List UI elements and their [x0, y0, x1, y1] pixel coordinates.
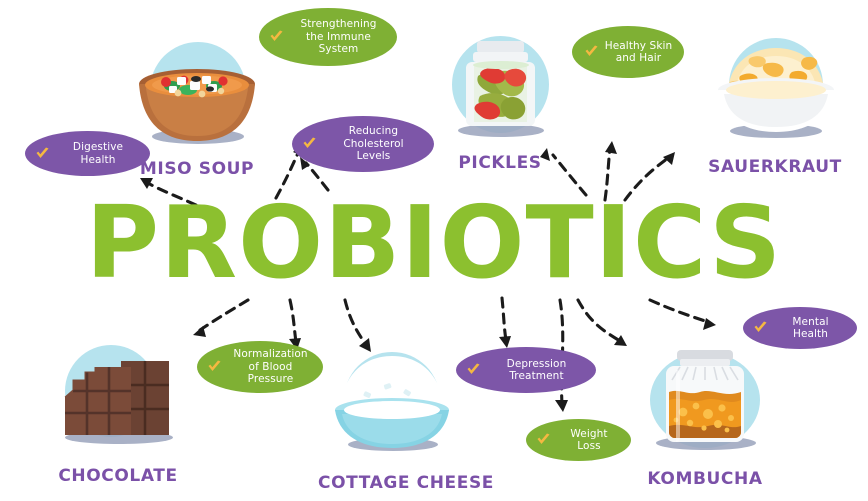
pickle-jar-icon: [425, 32, 575, 152]
benefit-label: Mental Health: [774, 316, 847, 341]
check-icon: [269, 30, 284, 44]
infographic-canvas: PROBIOTICS: [0, 0, 868, 501]
benefit-label: Weight Loss: [557, 428, 621, 453]
food-label-kombucha: KOMBUCHA: [630, 469, 780, 489]
benefit-pill-depression-treatment[interactable]: Depression Treatment: [456, 347, 596, 393]
benefit-pill-mental-health[interactable]: Mental Health: [743, 307, 857, 349]
food-item-sauerkraut[interactable]: SAUERKRAUT: [700, 36, 850, 177]
food-label-pickles: PICKLES: [425, 153, 575, 173]
page-title: PROBIOTICS: [0, 193, 868, 293]
check-icon: [207, 360, 222, 374]
cottage-cheese-illustration: [318, 352, 468, 472]
benefit-label: Normalizationof Blood Pressure: [228, 348, 313, 386]
cottage-cheese-bowl-icon: [318, 352, 468, 472]
soup-bowl-icon: [122, 38, 272, 158]
food-item-chocolate[interactable]: CHOCOLATE: [43, 345, 193, 486]
benefit-pill-cholesterol[interactable]: Reducing CholesterolLevels: [292, 116, 434, 172]
sauerkraut-illustration: [700, 36, 850, 156]
benefit-pill-digestive-health[interactable]: Digestive Health: [25, 131, 150, 176]
food-label-sauerkraut: SAUERKRAUT: [700, 157, 850, 177]
benefit-label: Strengtheningthe Immune System: [290, 18, 387, 56]
miso-soup-illustration: [122, 38, 272, 158]
benefit-label: Healthy Skinand Hair: [605, 40, 673, 65]
benefit-label: Reducing CholesterolLevels: [323, 125, 424, 163]
benefit-label: Depression Treatment: [487, 358, 586, 383]
benefit-label: Digestive Health: [56, 141, 140, 166]
sauerkraut-bowl-icon: [700, 36, 850, 156]
check-icon: [35, 147, 50, 161]
food-item-pickles[interactable]: PICKLES: [425, 32, 575, 173]
check-icon: [584, 45, 599, 59]
check-icon: [466, 363, 481, 377]
chocolate-bar-icon: [43, 345, 193, 465]
food-item-kombucha[interactable]: KOMBUCHA: [630, 348, 780, 489]
food-label-cottage-cheese: COTTAGE CHEESE: [318, 473, 468, 493]
benefit-pill-blood-pressure[interactable]: Normalizationof Blood Pressure: [197, 341, 323, 393]
check-icon: [302, 137, 317, 151]
benefit-pill-skin-and-hair[interactable]: Healthy Skinand Hair: [572, 26, 684, 78]
kombucha-jar-icon: [630, 348, 780, 468]
check-icon: [536, 433, 551, 447]
benefit-pill-weight-loss[interactable]: Weight Loss: [526, 419, 631, 461]
kombucha-illustration: [630, 348, 780, 468]
food-label-chocolate: CHOCOLATE: [43, 466, 193, 486]
chocolate-illustration: [43, 345, 193, 465]
pickles-illustration: [425, 32, 575, 152]
food-item-cottage-cheese[interactable]: COTTAGE CHEESE: [318, 352, 468, 493]
check-icon: [753, 321, 768, 335]
benefit-pill-immune-system[interactable]: Strengtheningthe Immune System: [259, 8, 397, 66]
